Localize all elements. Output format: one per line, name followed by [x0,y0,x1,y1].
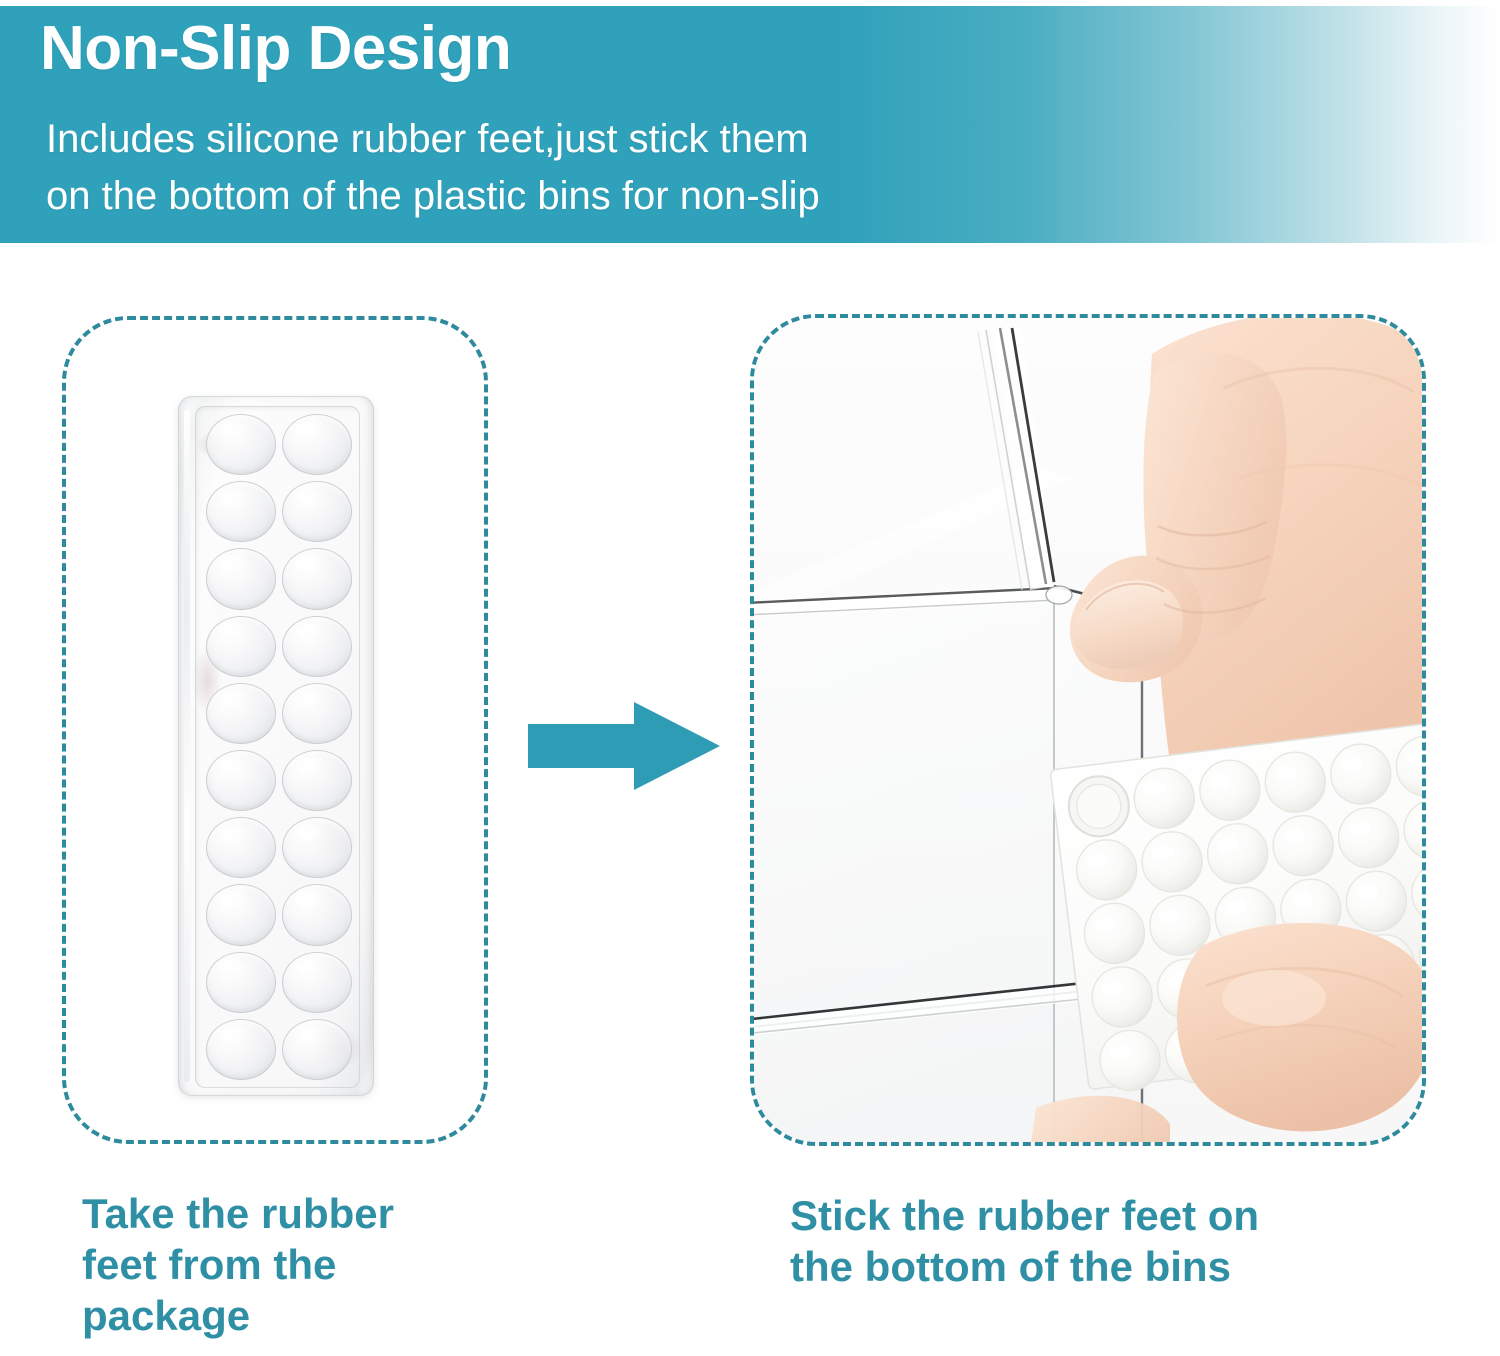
clear-rubber-foot [206,414,276,475]
clear-rubber-foot [206,750,276,811]
clear-rubber-foot [206,884,276,945]
step-1-photo-panel [62,316,488,1144]
clear-rubber-foot [206,548,276,609]
clear-rubber-foot [282,414,352,475]
subtitle-line-2: on the bottom of the plastic bins for no… [46,168,1056,225]
clear-rubber-foot [282,1019,352,1080]
clear-rubber-foot [282,616,352,677]
step-1-caption: Take the rubber feet from the package [82,1188,522,1342]
caption-line: feet from the [82,1239,522,1290]
infographic-page: Non-Slip Design Includes silicone rubber… [0,0,1500,1356]
clear-rubber-foot [282,817,352,878]
arrow-right-icon [528,698,720,794]
bin-and-hand-scene [754,318,1422,1142]
caption-line: Take the rubber [82,1188,522,1239]
clear-rubber-foot [282,750,352,811]
clear-rubber-foot [282,548,352,609]
header-subtitle: Includes silicone rubber feet,just stick… [46,111,1056,225]
clear-rubber-foot [206,683,276,744]
header-band: Non-Slip Design Includes silicone rubber… [0,6,1500,243]
blister-pack-strip [178,396,374,1096]
clear-rubber-foot [206,481,276,542]
clear-feet-grid [202,410,356,1084]
clear-rubber-foot [282,481,352,542]
page-title: Non-Slip Design [40,16,511,81]
step-2-caption: Stick the rubber feet on the bottom of t… [790,1190,1450,1292]
clear-rubber-foot [206,616,276,677]
caption-line: Stick the rubber feet on [790,1190,1450,1241]
clear-rubber-foot [206,1019,276,1080]
caption-line: the bottom of the bins [790,1241,1450,1292]
clear-rubber-foot [206,817,276,878]
subtitle-line-1: Includes silicone rubber feet,just stick… [46,111,1056,168]
clear-rubber-foot [282,884,352,945]
step-2-photo-panel [750,314,1426,1146]
clear-rubber-foot [282,952,352,1013]
clear-rubber-foot [282,683,352,744]
caption-line: package [82,1290,522,1341]
clear-rubber-foot [206,952,276,1013]
